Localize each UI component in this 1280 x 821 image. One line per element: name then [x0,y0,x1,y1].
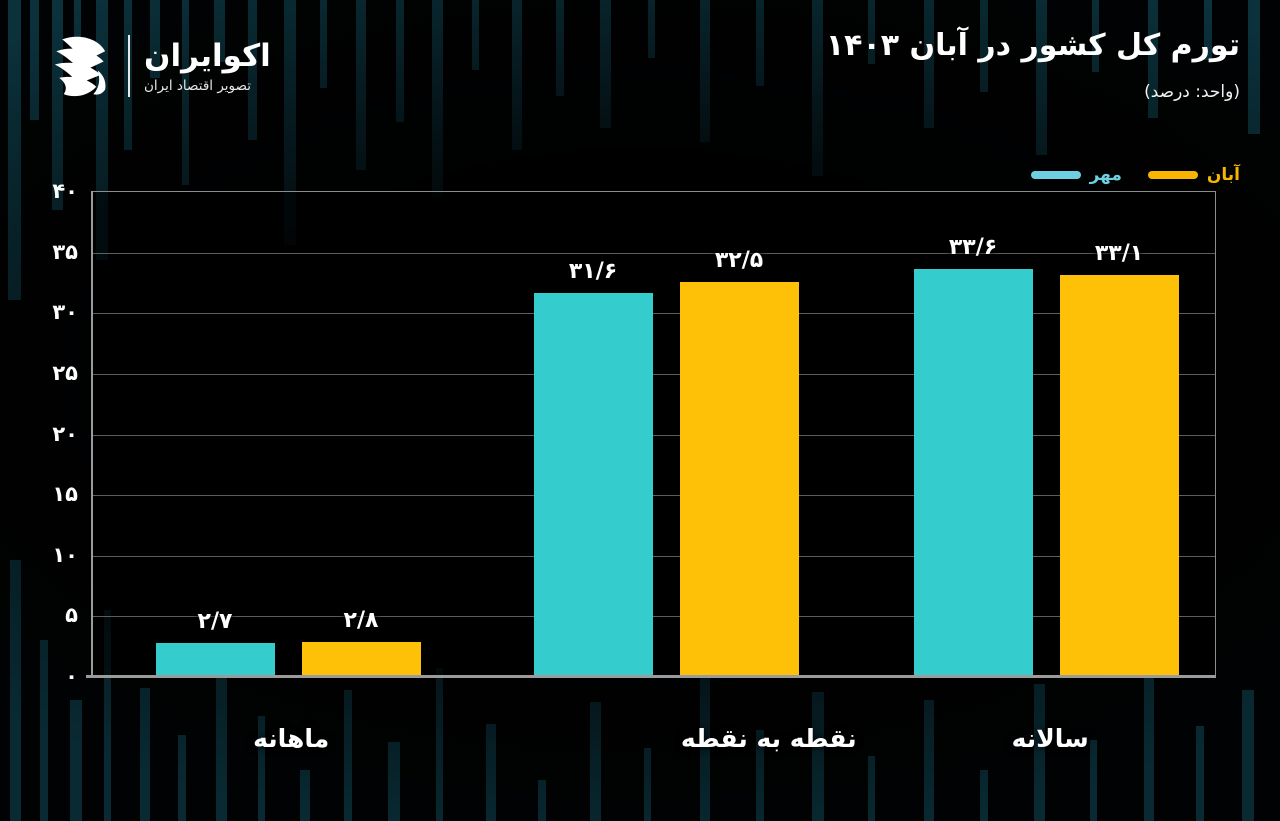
gridline [93,313,1215,314]
y-axis-tick-label: ۵ [65,603,78,627]
x-axis-category-label: سالانه [1012,724,1089,753]
bar-value-label: ۲/۷ [198,609,233,634]
logo-divider [128,35,130,97]
bar-آبان-نقطه به نقطه[interactable]: ۳۲/۵ [680,282,799,676]
gridline [93,253,1215,254]
chart-screenshot: اکوایران تصویر اقتصاد ایران تورم کل کشور… [0,0,1280,821]
legend-color-swatch [1031,171,1081,179]
chart-legend: آبانمهر [1031,165,1240,185]
bar-مهر-نقطه به نقطه[interactable]: ۳۱/۶ [534,293,653,676]
eco-iran-swoosh-logo-icon [40,29,114,103]
chart-unit-subtitle: (واحد: درصد) [826,82,1240,102]
title-block: تورم کل کشور در آبان ۱۴۰۳ (واحد: درصد) [826,28,1240,102]
y-axis-tick-label: ۳۵ [52,240,78,264]
legend-item[interactable]: آبان [1148,165,1240,185]
y-axis-line [91,191,93,676]
y-axis-tick-label: ۰ [65,664,78,688]
legend-item-label: آبان [1207,165,1240,185]
y-axis-tick-label: ۲۰ [52,422,78,446]
gridline [93,374,1215,375]
x-axis-category-label: ماهانه [253,724,329,753]
y-axis-tick-label: ۱۰ [52,543,78,567]
y-axis-tick-label: ۱۵ [52,482,78,506]
bar-value-label: ۳۲/۵ [715,248,763,273]
bar-مهر-سالانه[interactable]: ۳۳/۶ [914,269,1033,676]
bar-مهر-ماهانه[interactable]: ۲/۷ [156,643,275,676]
bar-value-label: ۲/۸ [344,608,379,633]
gridline [93,435,1215,436]
legend-item-label: مهر [1090,165,1122,185]
legend-item[interactable]: مهر [1031,165,1122,185]
gridline [93,556,1215,557]
bar-آبان-سالانه[interactable]: ۳۳/۱ [1060,275,1179,676]
bar-value-label: ۳۱/۶ [569,259,617,284]
bar-آبان-ماهانه[interactable]: ۲/۸ [302,642,421,676]
y-axis-tick-label: ۴۰ [52,179,78,203]
gridline [93,495,1215,496]
chart-plot-wrapper: ۲/۷۲/۸ماهانه۳۱/۶۳۲/۵نقطه به نقطه۳۳/۶۳۳/۱… [92,191,1216,676]
x-axis-baseline [86,675,1216,678]
chart-plot-area: ۲/۷۲/۸ماهانه۳۱/۶۳۲/۵نقطه به نقطه۳۳/۶۳۳/۱… [92,191,1216,676]
page-title: تورم کل کشور در آبان ۱۴۰۳ [826,28,1240,64]
y-axis-tick-label: ۳۰ [52,300,78,324]
brand-logo: اکوایران تصویر اقتصاد ایران [40,24,340,108]
bar-value-label: ۳۳/۱ [1095,241,1143,266]
x-axis-category-label: نقطه به نقطه [681,724,857,753]
brand-tagline: تصویر اقتصاد ایران [144,79,251,94]
bar-value-label: ۳۳/۶ [949,235,997,260]
brand-name: اکوایران [144,39,271,73]
y-axis-tick-label: ۲۵ [52,361,78,385]
legend-color-swatch [1148,171,1198,179]
gridline [93,616,1215,617]
